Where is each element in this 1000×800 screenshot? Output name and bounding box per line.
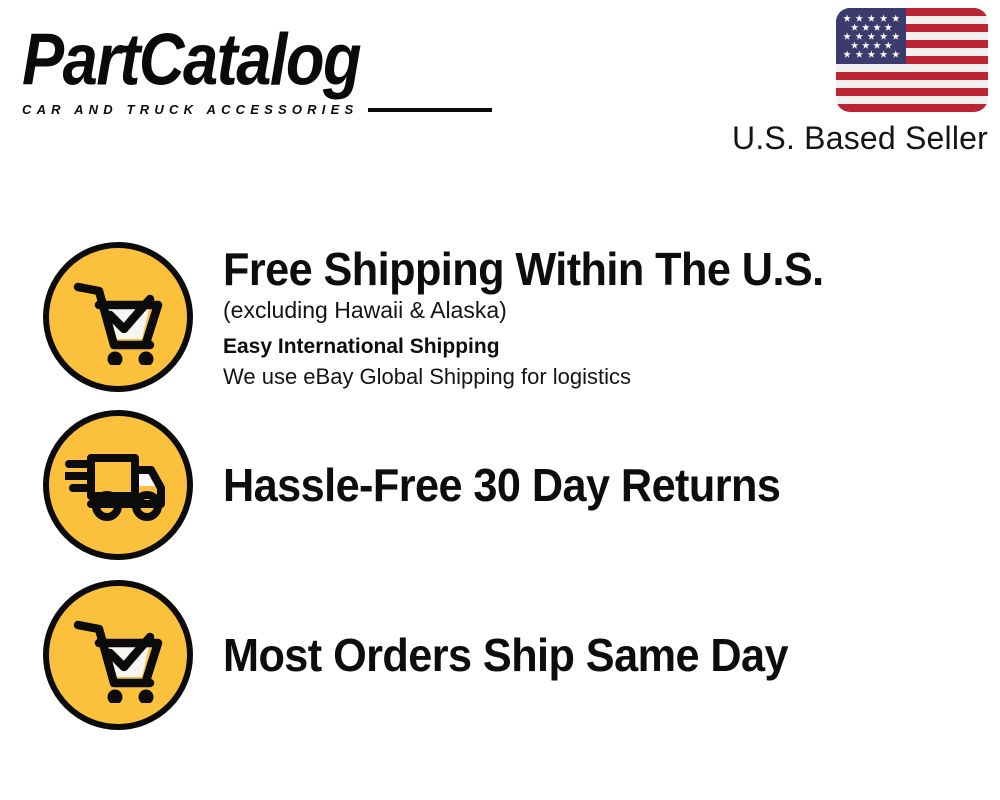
us-based-seller-badge: U.S. Based Seller	[698, 8, 988, 155]
flag-stripe	[836, 72, 988, 80]
flag-star-icon	[892, 32, 900, 40]
flag-star-row	[841, 14, 902, 22]
flag-stripe	[836, 96, 988, 104]
flag-star-icon	[851, 41, 859, 49]
flag-star-icon	[892, 14, 900, 22]
flag-star-icon	[873, 23, 881, 31]
flag-star-icon	[873, 41, 881, 49]
feature-row: Free Shipping Within The U.S. (excluding…	[0, 232, 1000, 402]
brand-tagline: CAR AND TRUCK ACCESSORIES	[22, 102, 358, 117]
feature-headline: Hassle-Free 30 Day Returns	[223, 459, 935, 511]
page-header: PartCatalog CAR AND TRUCK ACCESSORIES	[0, 0, 1000, 175]
flag-star-icon	[862, 41, 870, 49]
feature-text: Hassle-Free 30 Day Returns	[223, 459, 1000, 511]
flag-star-icon	[843, 14, 851, 22]
flag-star-icon	[855, 50, 863, 58]
us-based-seller-label: U.S. Based Seller	[732, 121, 988, 155]
feature-row: Most Orders Ship Same Day	[0, 575, 1000, 735]
flag-star-row	[841, 50, 902, 58]
feature-text: Free Shipping Within The U.S. (excluding…	[223, 243, 1000, 392]
flag-stripe	[836, 80, 988, 88]
flag-star-icon	[862, 23, 870, 31]
delivery-truck-icon	[43, 410, 193, 560]
flag-star-icon	[880, 32, 888, 40]
flag-star-icon	[851, 23, 859, 31]
feature-headline: Most Orders Ship Same Day	[223, 629, 935, 681]
flag-star-icon	[867, 32, 875, 40]
us-flag-icon	[836, 8, 988, 112]
flag-canton	[836, 8, 906, 64]
shopping-cart-check-icon	[43, 242, 193, 392]
flag-star-icon	[880, 14, 888, 22]
feature-row: Hassle-Free 30 Day Returns	[0, 405, 1000, 565]
flag-star-row	[841, 32, 902, 40]
flag-star-icon	[892, 50, 900, 58]
brand-logo[interactable]: PartCatalog CAR AND TRUCK ACCESSORIES	[22, 22, 492, 117]
feature-text: Most Orders Ship Same Day	[223, 629, 1000, 681]
flag-star-icon	[884, 23, 892, 31]
shopping-cart-check-icon	[43, 580, 193, 730]
flag-star-icon	[880, 50, 888, 58]
flag-star-icon	[855, 32, 863, 40]
flag-star-icon	[867, 14, 875, 22]
brand-tagline-row: CAR AND TRUCK ACCESSORIES	[22, 102, 492, 117]
flag-star-icon	[884, 41, 892, 49]
feature-subtext-secondary: We use eBay Global Shipping for logistic…	[223, 362, 980, 392]
feature-headline: Free Shipping Within The U.S.	[223, 243, 935, 295]
flag-star-grid	[836, 8, 906, 64]
flag-stripe	[836, 64, 988, 72]
flag-stripe	[836, 104, 988, 112]
feature-subtext: (excluding Hawaii & Alaska)	[223, 295, 980, 326]
flag-stripe	[836, 88, 988, 96]
flag-star-icon	[867, 50, 875, 58]
flag-star-icon	[843, 32, 851, 40]
flag-star-icon	[855, 14, 863, 22]
flag-star-row	[841, 23, 902, 31]
brand-wordmark: PartCatalog	[22, 22, 501, 100]
tagline-rule-divider	[368, 108, 492, 112]
flag-star-row	[841, 41, 902, 49]
feature-subtext-strong: Easy International Shipping	[223, 332, 980, 362]
flag-star-icon	[843, 50, 851, 58]
